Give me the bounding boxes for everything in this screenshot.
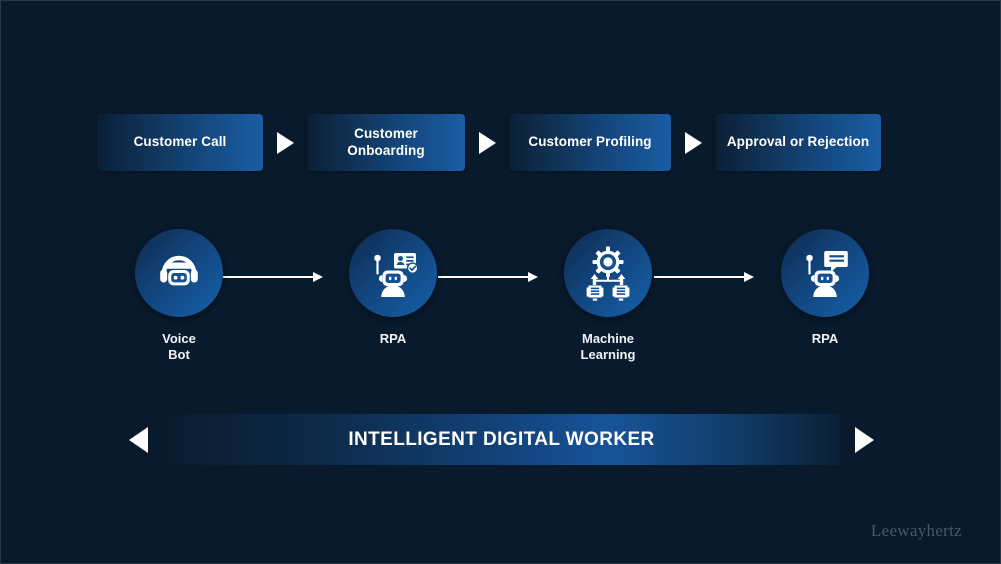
voice-bot-headset-robot-icon xyxy=(151,245,207,301)
process-separator xyxy=(263,132,307,154)
arrow-head xyxy=(528,272,538,282)
node-circle xyxy=(564,229,652,317)
process-stage-customer-call[interactable]: Customer Call xyxy=(97,114,263,171)
triangle-right-icon xyxy=(277,132,294,154)
arrow-head xyxy=(744,272,754,282)
process-separator xyxy=(465,132,509,154)
process-stage-label: Approval or Rejection xyxy=(717,134,879,150)
technology-node-label: Machine Learning xyxy=(542,331,674,364)
intelligent-digital-worker-banner: INTELLIGENT DIGITAL WORKER xyxy=(163,414,840,465)
arrow-head xyxy=(313,272,323,282)
technology-node-label: RPA xyxy=(327,331,459,347)
triangle-right-icon xyxy=(685,132,702,154)
diagram-canvas: Customer Call Customer Onboarding Custom… xyxy=(0,0,1001,564)
triangle-right-icon xyxy=(479,132,496,154)
technology-nodes-row: Voice Bot xyxy=(1,229,1001,379)
banner-row: INTELLIGENT DIGITAL WORKER xyxy=(129,414,874,465)
technology-node-voice-bot[interactable]: Voice Bot xyxy=(113,229,245,364)
gear-data-nodes-icon xyxy=(579,244,637,302)
triangle-right-icon[interactable] xyxy=(855,427,874,453)
process-stage-label: Customer Call xyxy=(124,134,237,150)
node-circle xyxy=(781,229,869,317)
triangle-left-icon[interactable] xyxy=(129,427,148,453)
robot-chat-bubble-icon xyxy=(796,244,854,302)
banner-title: INTELLIGENT DIGITAL WORKER xyxy=(348,429,654,451)
process-stage-approval-or-rejection[interactable]: Approval or Rejection xyxy=(715,114,881,171)
technology-node-machine-learning[interactable]: Machine Learning xyxy=(542,229,674,364)
technology-node-rpa-onboarding[interactable]: RPA xyxy=(327,229,459,347)
process-stage-label: Customer Profiling xyxy=(518,134,661,150)
robot-id-card-verified-icon xyxy=(364,244,422,302)
process-stage-customer-onboarding[interactable]: Customer Onboarding xyxy=(307,114,465,171)
watermark-logo: Leewayhertz xyxy=(871,521,962,541)
technology-node-label: RPA xyxy=(759,331,891,347)
node-circle xyxy=(349,229,437,317)
process-stage-customer-profiling[interactable]: Customer Profiling xyxy=(509,114,671,171)
process-flow-row: Customer Call Customer Onboarding Custom… xyxy=(97,114,907,171)
technology-node-rpa-approval[interactable]: RPA xyxy=(759,229,891,347)
node-circle xyxy=(135,229,223,317)
technology-node-label: Voice Bot xyxy=(113,331,245,364)
process-separator xyxy=(671,132,715,154)
process-stage-label: Customer Onboarding xyxy=(307,126,465,159)
